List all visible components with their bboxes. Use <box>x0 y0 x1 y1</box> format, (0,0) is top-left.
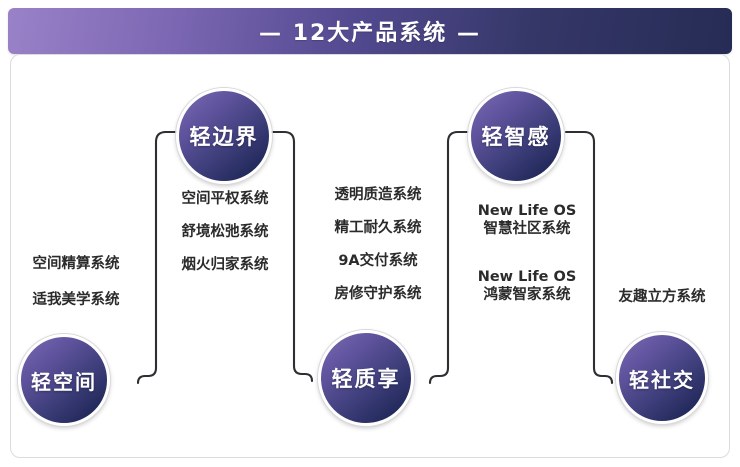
list-item: 友趣立方系统 <box>592 288 732 306</box>
list-item: 舒境松弛系统 <box>155 223 295 241</box>
node-qingkongjian[interactable]: 轻空间 <box>18 334 110 426</box>
list-item: 空间平权系统 <box>155 190 295 208</box>
item-list-qingshejiao: 友趣立方系统 <box>592 288 732 306</box>
list-item-main: 友趣立方系统 <box>619 289 706 305</box>
list-item-main: 适我美学系统 <box>33 292 120 308</box>
node-label: 轻智感 <box>482 121 551 151</box>
node-qingbianjie[interactable]: 轻边界 <box>176 88 272 184</box>
node-qingzhixiang[interactable]: 轻质享 <box>318 330 414 426</box>
node-qingshejiao[interactable]: 轻社交 <box>616 332 708 424</box>
list-item-main: 透明质造系统 <box>335 187 422 203</box>
list-item-main: 空间精算系统 <box>33 256 120 272</box>
list-item-main: 烟火归家系统 <box>182 257 269 273</box>
list-item: 房修守护系统 <box>305 285 451 303</box>
list-item: New Life OS 智慧社区系统 <box>452 202 602 238</box>
list-item-main: 舒境松弛系统 <box>182 224 269 240</box>
list-item: 适我美学系统 <box>6 291 146 309</box>
list-item: 9A交付系统 <box>305 252 451 270</box>
page-title: — 12大产品系统 — <box>259 15 481 47</box>
list-item-main: New Life OS <box>452 202 602 220</box>
list-item: 透明质造系统 <box>305 186 451 204</box>
item-list-qingzhixiang: 透明质造系统 精工耐久系统 9A交付系统 房修守护系统 <box>305 186 451 304</box>
list-item-main: 精工耐久系统 <box>335 220 422 236</box>
node-label: 轻空间 <box>31 366 97 395</box>
list-item: 精工耐久系统 <box>305 219 451 237</box>
list-item-main: 空间平权系统 <box>182 191 269 207</box>
item-list-qingkongjian: 空间精算系统 适我美学系统 <box>6 255 146 309</box>
node-label: 轻边界 <box>190 121 259 151</box>
list-item-sub: 智慧社区系统 <box>452 220 602 238</box>
list-item-main: 房修守护系统 <box>335 286 422 302</box>
item-list-qingzhigan: New Life OS 智慧社区系统 New Life OS 鸿蒙智家系统 <box>452 202 602 305</box>
list-item-main: 9A交付系统 <box>338 253 417 269</box>
header-banner: — 12大产品系统 — <box>8 8 732 54</box>
list-item-sub: 鸿蒙智家系统 <box>452 286 602 304</box>
list-item: 烟火归家系统 <box>155 256 295 274</box>
list-item-main: New Life OS <box>452 268 602 286</box>
infographic-root: — 12大产品系统 — 轻空间 轻边界 轻质享 轻智感 轻社交 空间精算系统 适… <box>0 0 740 467</box>
item-list-qingbianjie: 空间平权系统 舒境松弛系统 烟火归家系统 <box>155 190 295 274</box>
list-item: 空间精算系统 <box>6 255 146 273</box>
node-label: 轻质享 <box>332 363 401 393</box>
list-item: New Life OS 鸿蒙智家系统 <box>452 268 602 304</box>
node-label: 轻社交 <box>629 364 695 393</box>
node-qingzhigan[interactable]: 轻智感 <box>468 88 564 184</box>
